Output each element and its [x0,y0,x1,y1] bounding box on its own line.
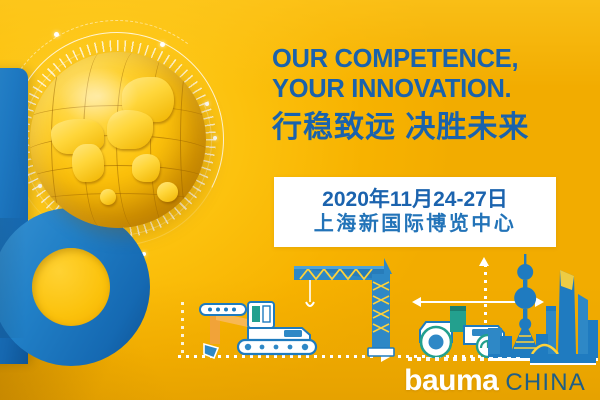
event-venue: 上海新国际博览中心 [314,212,517,237]
orbit-node-icon [54,32,59,37]
bauma-china-banner: OUR COMPETENCE, YOUR INNOVATION. 行稳致远 决胜… [0,0,600,400]
landmass [72,144,104,183]
headline-english-line-1: OUR COMPETENCE, [272,44,584,74]
footer-dotted-line [408,357,524,361]
globe-sphere [30,52,206,228]
headline-block: OUR COMPETENCE, YOUR INNOVATION. 行稳致远 决胜… [272,44,584,145]
headline-english-line-2: YOUR INNOVATION. [272,74,584,104]
shanghai-skyline-icon [488,250,598,362]
tower-crane-icon [288,250,400,362]
headline-chinese: 行稳致远 决胜未来 [272,111,584,145]
globe-graphic [30,52,206,228]
orbit-node-icon [160,42,165,47]
event-info-panel: 2020年11月24-27日 上海新国际博览中心 [274,177,556,247]
logo-region: CHINA [505,368,586,398]
bauma-china-logo[interactable]: bauma CHINA [404,366,586,398]
landmass [107,110,153,149]
footer-accent-bar [530,356,596,365]
landmass [157,182,178,201]
event-date: 2020年11月24-27日 [322,187,508,212]
landmass [132,154,160,182]
guide-vertical-left [181,302,184,354]
orbit-node-icon [213,136,217,140]
logo-wordmark: bauma [404,366,498,396]
